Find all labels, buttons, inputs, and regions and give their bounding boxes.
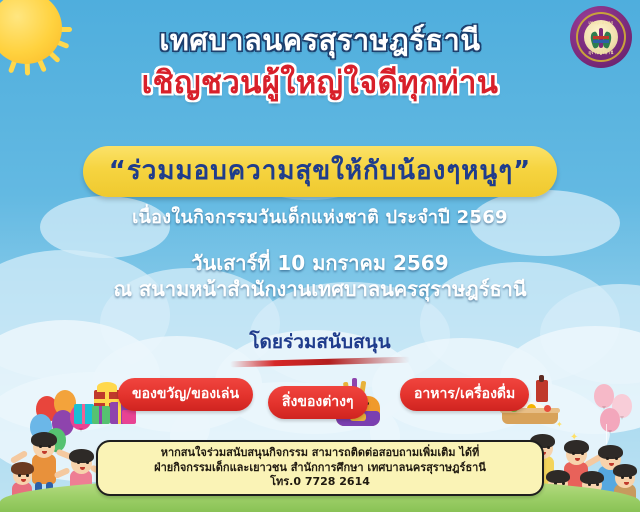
support-heading: โดยร่วมสนับสนุน [0,327,640,357]
contact-line-3: โทร.0 7728 2614 [270,475,370,490]
badge-stuff[interactable]: สิ่งของต่างๆ [268,386,368,419]
quote-banner: “ร่วมมอบความสุขให้กับน้องๆหนูๆ” [83,146,558,197]
date-line: วันเสาร์ที่ 10 มกราคม 2569 [0,250,640,276]
venue-line: ณ สนามหน้าสำนักงานเทศบาลนครสุราษฎร์ธานี [0,276,640,302]
invite-headline: เชิญชวนผู้ใหญ่ใจดีทุกท่าน [0,65,640,102]
support-heading-block: โดยร่วมสนับสนุน [0,327,640,365]
occasion-line: เนื่องในกิจกรรมวันเด็กแห่งชาติ ประจำปี 2… [0,202,640,231]
contact-line-2: ฝ่ายกิจกรรมเด็กและเยาวชน สำนักการศึกษา เ… [154,461,486,476]
badge-food[interactable]: อาหาร/เครื่องดื่ม [400,378,529,411]
organization-title: เทศบาลนครสุราษฎร์ธานี [0,22,640,58]
date-venue-block: วันเสาร์ที่ 10 มกราคม 2569 ณ สนามหน้าสำน… [0,250,640,303]
contact-line-1: หากสนใจร่วมสนับสนุนกิจกรรม สามารถติดต่อส… [161,446,480,461]
poster-canvas: เทศบาลนคร สุราษฎร์ธานี เทศบาลนครสุราษฎร์… [0,0,640,512]
quote-banner-row: “ร่วมมอบความสุขให้กับน้องๆหนูๆ” [0,146,640,197]
quote-text: “ร่วมมอบความสุขให้กับน้องๆหนูๆ” [109,150,532,191]
sparkle-icon: ✦ [570,432,578,443]
support-category-row: ของขวัญ/ของเล่น สิ่งของต่างๆ [0,378,640,428]
badge-gift[interactable]: ของขวัญ/ของเล่น [118,378,253,411]
contact-info-box: หากสนใจร่วมสนับสนุนกิจกรรม สามารถติดต่อส… [96,440,544,496]
headline-block: เทศบาลนครสุราษฎร์ธานี เชิญชวนผู้ใหญ่ใจดี… [0,22,640,102]
